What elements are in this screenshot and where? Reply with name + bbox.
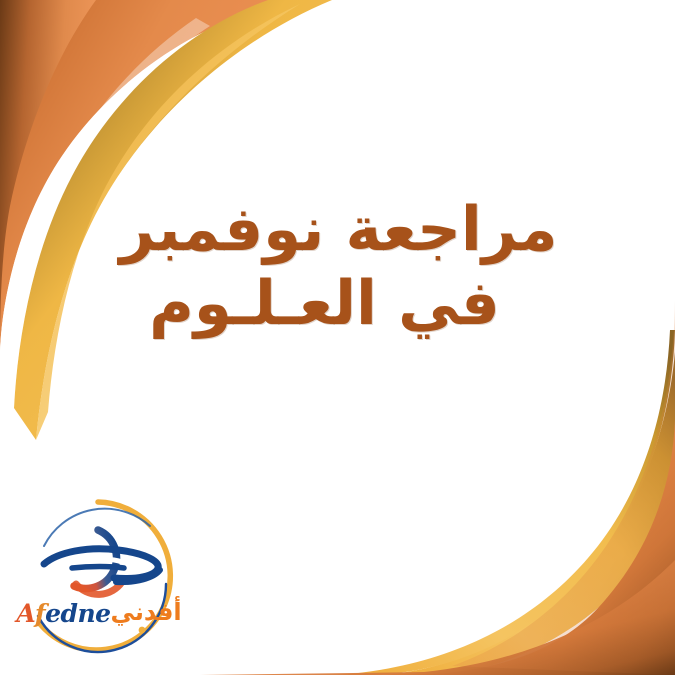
poster-canvas: مراجعة نوفمبر في العـلـوم [0, 0, 675, 675]
swoosh-bottom-right-group [200, 300, 675, 675]
swoosh-bottom-right-orange [404, 420, 675, 675]
ribbon-bottom-right-gold [384, 352, 675, 675]
logo-badge-svg [18, 496, 178, 656]
ribbon-bottom-right-gold-wide [336, 330, 675, 675]
swoosh-bottom-orange-tail [200, 560, 675, 675]
logo-letter-a: A [16, 599, 34, 628]
logo-latin-text: Afedne [16, 601, 110, 626]
logo-letter-f: f [35, 599, 45, 628]
logo-wordmark: Afedne أفدني [18, 596, 178, 630]
swoosh-right-orange-band [452, 300, 675, 675]
afedne-logo[interactable]: Afedne أفدني [18, 496, 178, 656]
title-line-2: في العـلـوم [78, 270, 605, 338]
swoosh-bottom-right-white-gap [452, 452, 675, 675]
title-line-1: مراجعة نوفمبر [78, 196, 605, 264]
poster-title: مراجعة نوفمبر في العـلـوم [0, 196, 675, 339]
planet-inner-bar [72, 567, 124, 569]
logo-letters-edne: edne [45, 599, 110, 628]
logo-arabic-text: أفدني [111, 600, 182, 624]
